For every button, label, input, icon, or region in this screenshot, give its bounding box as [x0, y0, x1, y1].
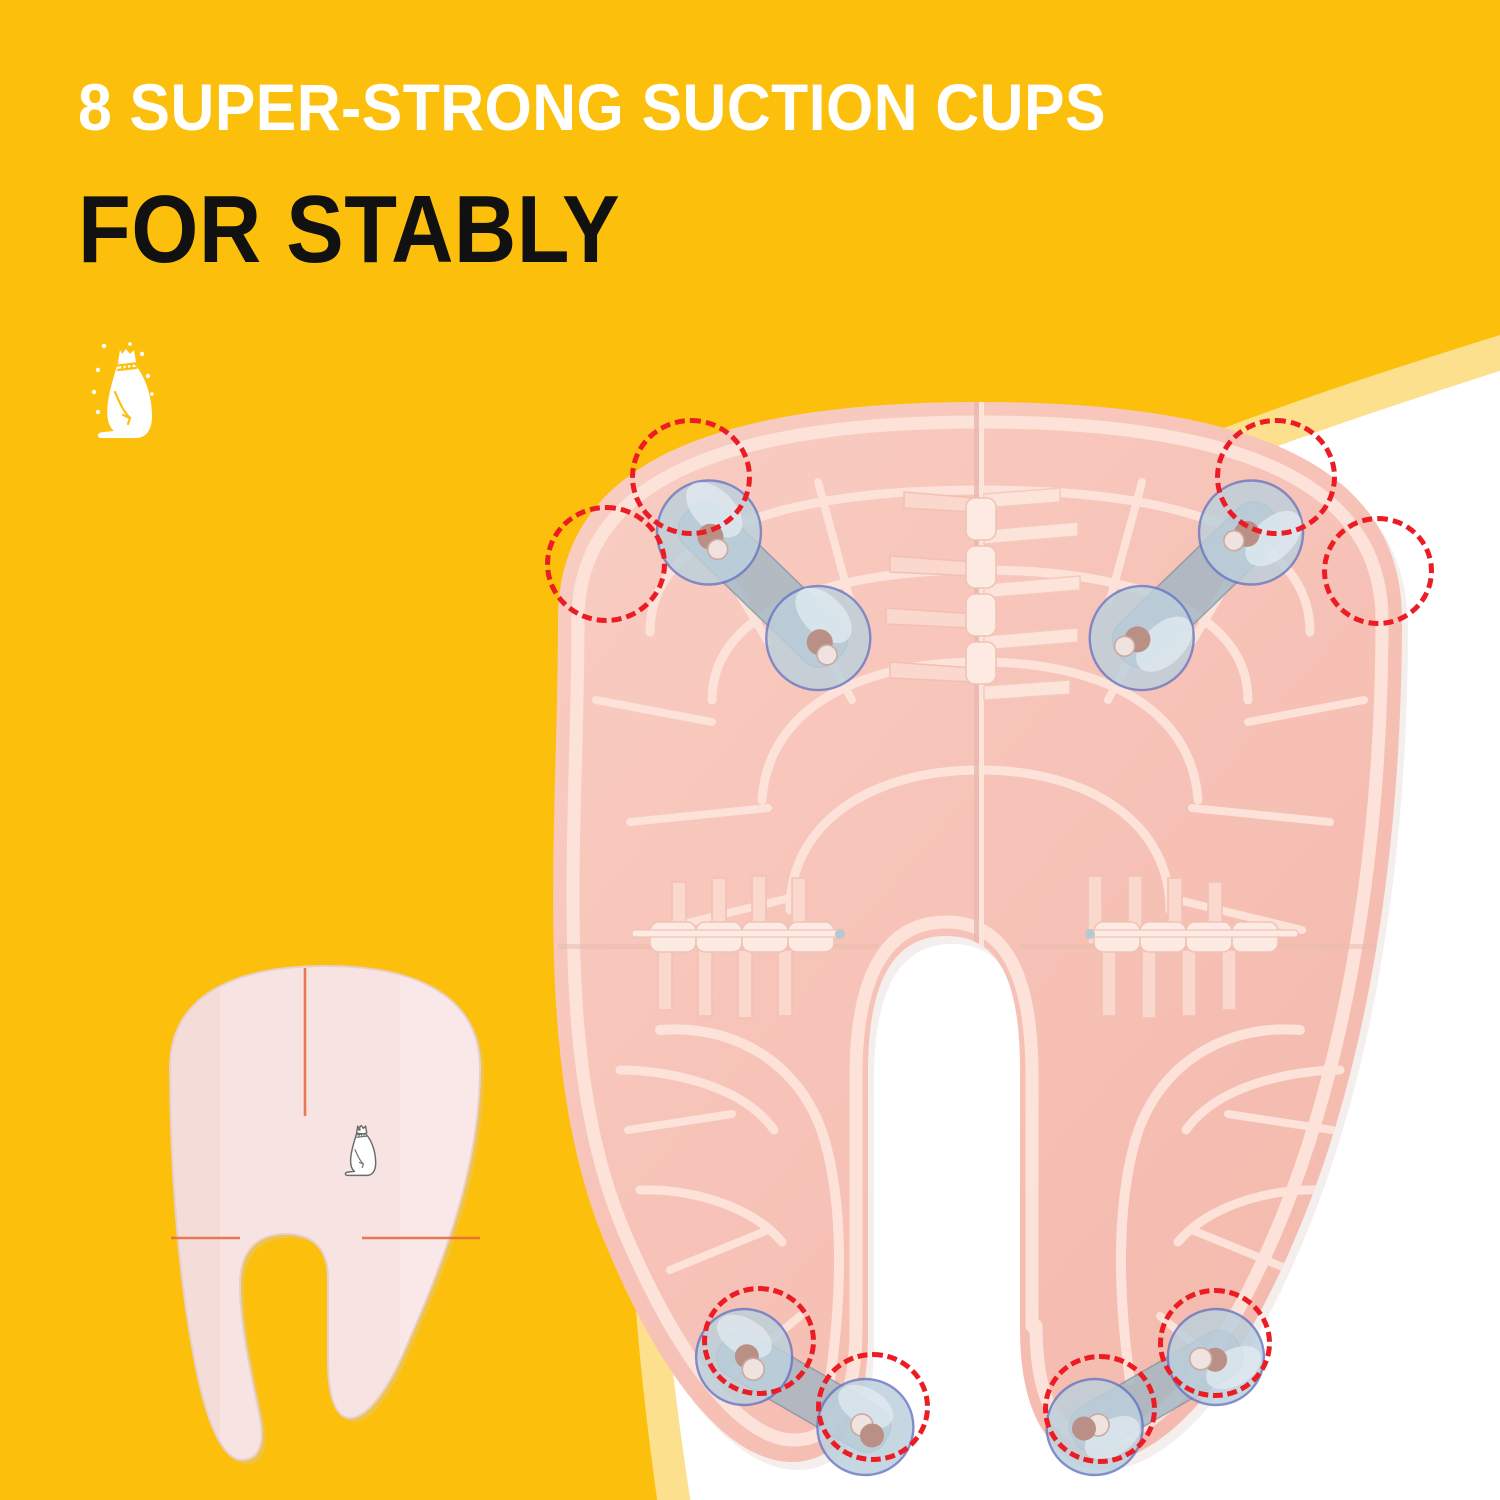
sitting-bear-logo-icon [74, 332, 194, 452]
cup-highlight-bottom-right-outer [1043, 1354, 1157, 1464]
headline-block: 8 SUPER-STRONG SUCTION CUPS FOR STABLY [78, 74, 1328, 278]
cup-highlight-top-right-outer [1322, 516, 1434, 626]
folded-potty-seat [100, 948, 550, 1478]
cup-highlight-top-right-inner [1215, 418, 1337, 536]
headline-secondary: FOR STABLY [78, 182, 1203, 278]
cup-highlight-top-left-inner [630, 418, 752, 536]
cup-highlight-bottom-left-outer [816, 1352, 930, 1462]
banner-canvas: 8 SUPER-STRONG SUCTION CUPS FOR STABLY [0, 0, 1500, 1500]
cup-highlight-bottom-left-inner [702, 1286, 816, 1396]
cup-highlight-top-left-outer [545, 505, 667, 623]
headline-primary: 8 SUPER-STRONG SUCTION CUPS [78, 74, 1228, 140]
cup-highlight-bottom-right-inner [1158, 1288, 1272, 1398]
